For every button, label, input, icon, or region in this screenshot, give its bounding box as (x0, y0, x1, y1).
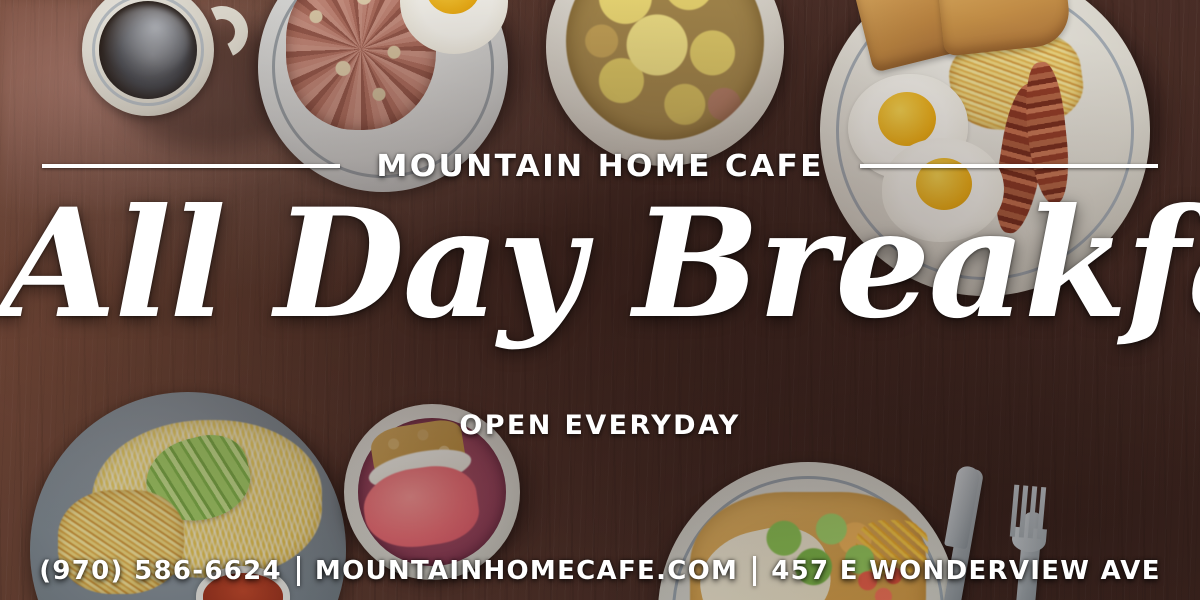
headline: All Day Breakfast! (0, 186, 1200, 344)
street-address[interactable]: 457 E WONDERVIEW AVE (771, 556, 1161, 586)
hours-subline: OPEN EVERYDAY (0, 410, 1200, 441)
footer-separator-one (297, 556, 300, 586)
divider-rule-right (860, 164, 1158, 168)
contact-footer: (970) 586-6624 MOUNTAINHOMECAFE.COM 457 … (0, 556, 1200, 586)
poster-content: MOUNTAIN HOME CAFE All Day Breakfast! OP… (0, 0, 1200, 600)
cafe-promo-poster: MOUNTAIN HOME CAFE All Day Breakfast! OP… (0, 0, 1200, 600)
website-url[interactable]: MOUNTAINHOMECAFE.COM (315, 556, 738, 586)
footer-separator-two (753, 556, 756, 586)
phone-number[interactable]: (970) 586-6624 (39, 556, 282, 586)
divider-rule-left (42, 164, 340, 168)
